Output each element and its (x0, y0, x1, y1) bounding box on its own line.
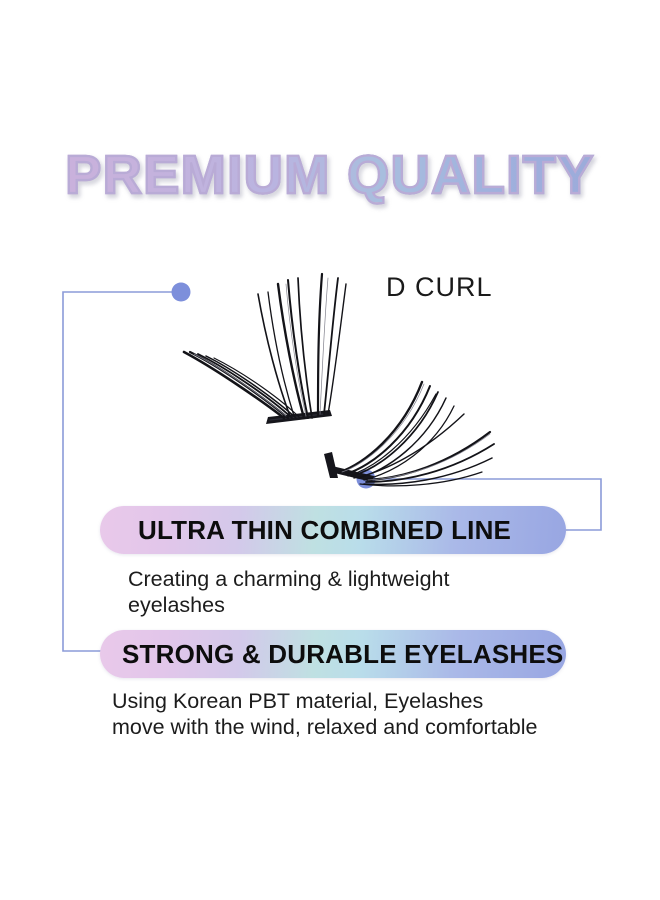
feature-title-2: STRONG & DURABLE EYELASHES (122, 639, 563, 670)
feature-description-2: Using Korean PBT material, Eyelashes mov… (112, 688, 592, 740)
d-curl-label: D CURL (386, 272, 493, 303)
promo-canvas: PREMIUM QUALITY PREMIUM QUALITY (0, 0, 660, 900)
feature-description-1: Creating a charming & lightweight eyelas… (128, 566, 558, 618)
lower-lash-cluster (318, 368, 508, 494)
feature-title-1: ULTRA THIN COMBINED LINE (138, 515, 511, 546)
upper-lash-cluster (118, 248, 350, 434)
feature-pill-2: STRONG & DURABLE EYELASHES (100, 630, 566, 678)
feature-pill-1: ULTRA THIN COMBINED LINE (100, 506, 566, 554)
page-title: PREMIUM QUALITY (0, 148, 660, 202)
